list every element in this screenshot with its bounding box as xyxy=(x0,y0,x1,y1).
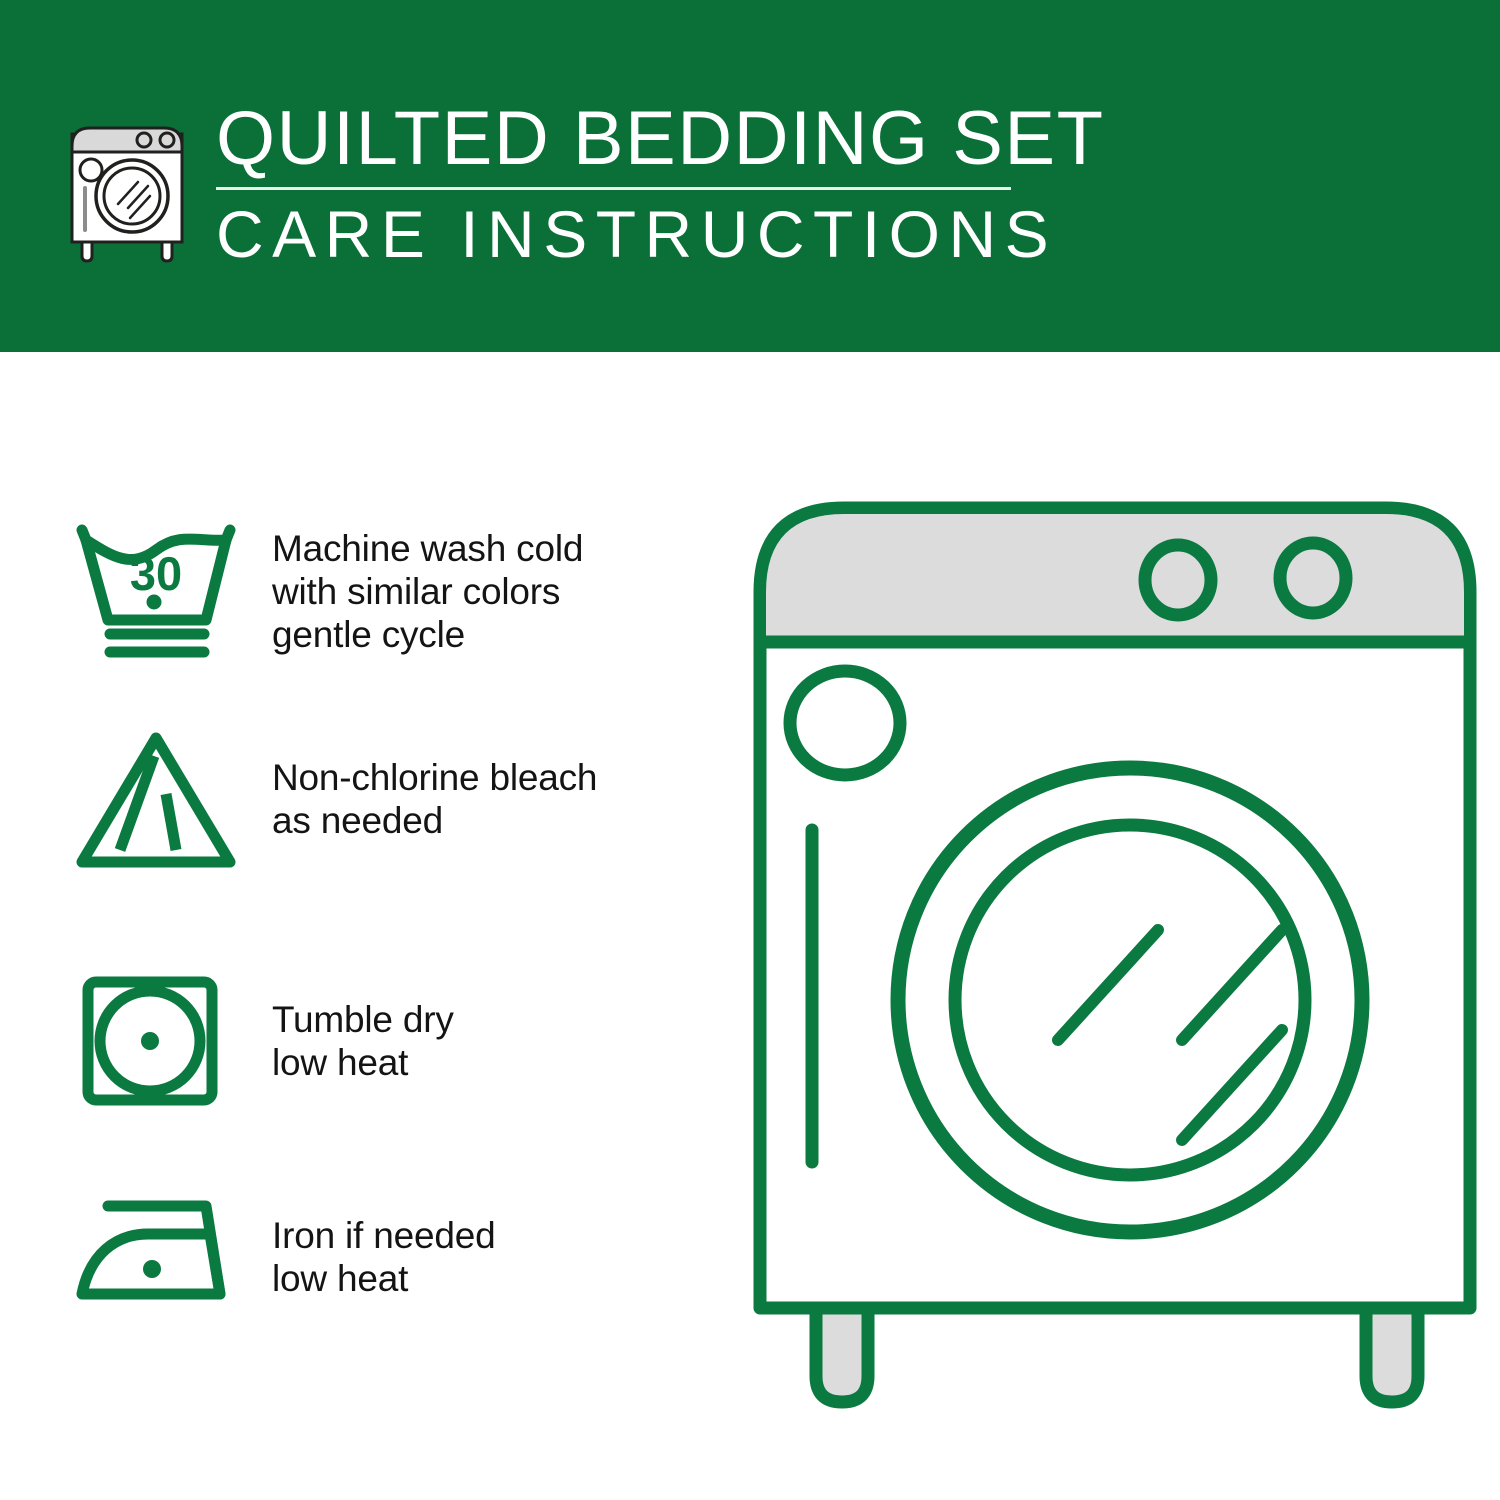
non-chlorine-bleach-triangle-icon xyxy=(68,724,268,874)
care-line: Non-chlorine bleach xyxy=(272,756,730,799)
control-panel xyxy=(766,514,1464,642)
care-line: Machine wash cold xyxy=(272,527,730,570)
wash-temperature-label: 30 xyxy=(130,547,182,600)
care-text-tumble-dry: Tumble dry low heat xyxy=(268,998,730,1084)
page-title: QUILTED BEDDING SET xyxy=(216,96,1026,182)
care-line: low heat xyxy=(272,1257,730,1300)
knob-left[interactable] xyxy=(1145,545,1211,615)
iron-low-heat-icon xyxy=(68,1182,268,1332)
leg-left xyxy=(816,1308,868,1402)
care-row-iron: Iron if needed low heat xyxy=(0,1172,730,1342)
tumble-dry-low-heat-icon xyxy=(68,966,268,1116)
care-instructions-infographic: QUILTED BEDDING SET CARE INSTRUCTIONS 30 xyxy=(0,0,1500,1500)
washing-machine-icon xyxy=(62,104,192,264)
care-text-bleach: Non-chlorine bleach as needed xyxy=(268,756,730,842)
title-divider xyxy=(216,187,1011,190)
detergent-dispenser[interactable] xyxy=(790,671,900,775)
care-line: Tumble dry xyxy=(272,998,730,1041)
wash-tub-30-gentle-icon: 30 xyxy=(68,516,268,666)
care-line: with similar colors xyxy=(272,570,730,613)
care-row-tumble-dry: Tumble dry low heat xyxy=(0,952,730,1130)
leg-right xyxy=(1366,1308,1418,1402)
care-row-machine-wash: 30 Machine wash cold with similar colors… xyxy=(0,502,730,680)
care-text-iron: Iron if needed low heat xyxy=(268,1214,730,1300)
knob-right[interactable] xyxy=(1280,543,1346,613)
header-banner: QUILTED BEDDING SET CARE INSTRUCTIONS xyxy=(0,0,1500,352)
care-row-bleach: Non-chlorine bleach as needed xyxy=(0,710,730,888)
care-line: as needed xyxy=(272,799,730,842)
care-text-machine-wash: Machine wash cold with similar colors ge… xyxy=(268,527,730,656)
page-subtitle: CARE INSTRUCTIONS xyxy=(216,196,1026,272)
header-titles: QUILTED BEDDING SET CARE INSTRUCTIONS xyxy=(216,96,1026,272)
care-line: gentle cycle xyxy=(272,613,730,656)
care-symbol-list: 30 Machine wash cold with similar colors… xyxy=(0,352,730,1500)
washing-machine-illustration xyxy=(730,440,1500,1450)
care-line: Iron if needed xyxy=(272,1214,730,1257)
care-line: low heat xyxy=(272,1041,730,1084)
